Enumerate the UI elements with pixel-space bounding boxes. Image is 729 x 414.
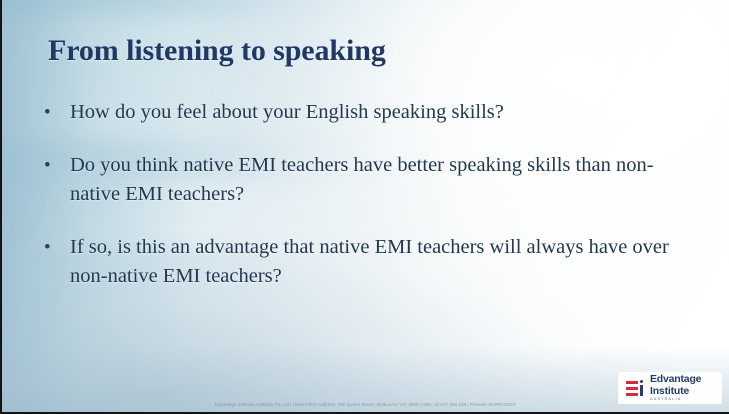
edvantage-logo-mark-icon [626,379,645,398]
slide-content: From listening to speaking • How do you … [2,0,729,412]
logo-name-line-2: Institute [650,386,701,397]
list-item: • If so, is this an advantage that nativ… [40,233,680,291]
logo-name-line-1: Edvantage [650,374,701,385]
logo-bar-top [626,381,638,384]
logo-country-label: AUSTRALIA [650,398,701,402]
organization-logo: Edvantage Institute AUSTRALIA [618,372,722,404]
logo-dot [640,380,644,384]
bullet-text: Do you think native EMI teachers have be… [70,151,680,209]
bullet-text: How do you feel about your English speak… [70,98,680,127]
bullet-text: If so, is this an advantage that native … [70,233,680,291]
logo-bar-middle [626,387,638,390]
logo-wordmark: Edvantage Institute AUSTRALIA [650,374,701,401]
logo-bar-bottom [626,393,638,396]
bullet-marker-icon: • [40,151,70,180]
bullet-marker-icon: • [40,98,70,127]
page-title: From listening to speaking [48,34,386,67]
list-item: • Do you think native EMI teachers have … [40,151,680,209]
bullet-marker-icon: • [40,233,70,262]
logo-stem [640,385,644,396]
presentation-slide: From listening to speaking • How do you … [0,0,729,414]
bullet-list: • How do you feel about your English spe… [40,98,680,315]
list-item: • How do you feel about your English spe… [40,98,680,127]
